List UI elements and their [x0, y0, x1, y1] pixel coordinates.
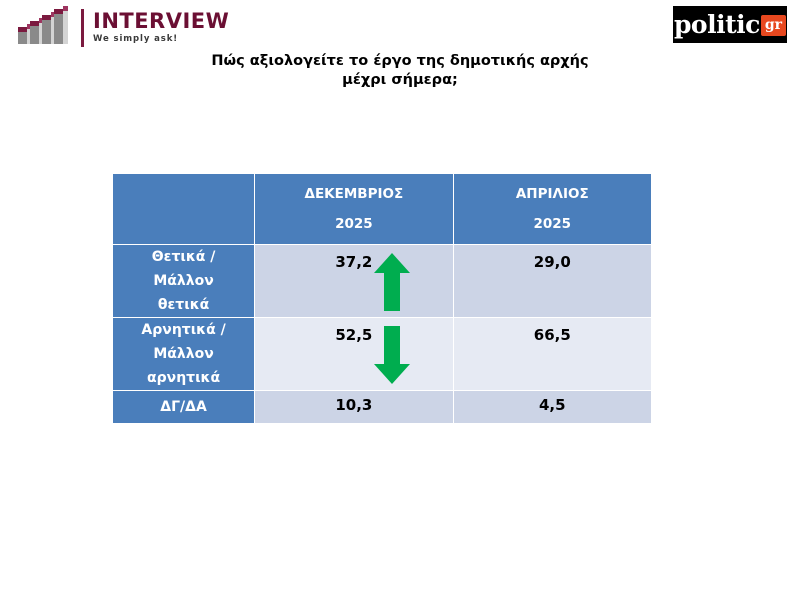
logo-tagline: We simply ask!: [93, 34, 229, 45]
row-label-negative-line1: Αρνητικά /: [141, 322, 225, 338]
column-header-april: ΑΠΡΙΛΙΟΣ 2025: [454, 174, 651, 244]
column-header-december-year: 2025: [255, 209, 452, 239]
row-label-positive: Θετικά / Μάλλον θετικά: [113, 245, 254, 317]
cell-dk-na-april-value: 4,5: [454, 391, 651, 414]
cell-negative-december: 52,5: [255, 318, 452, 390]
row-label-dk-na: ΔΓ/ΔΑ: [113, 391, 254, 423]
cell-positive-april: 29,0: [454, 245, 651, 317]
row-label-positive-line1: Θετικά /: [152, 249, 216, 265]
column-header-april-month: ΑΠΡΙΛΙΟΣ: [454, 179, 651, 209]
arrow-up-icon: [372, 251, 412, 313]
arrow-down-icon: [372, 324, 412, 386]
cell-positive-april-value: 29,0: [454, 245, 651, 271]
row-label-negative-line3: αρνητικά: [147, 370, 220, 386]
cell-positive-december-value: 37,2: [255, 245, 452, 271]
interview-logo: INTERVIEW We simply ask!: [18, 9, 218, 49]
page-title-line1: Πώς αξιολογείτε το έργο της δημοτικής αρ…: [120, 52, 680, 71]
cell-negative-december-value: 52,5: [255, 318, 452, 344]
table-row: Αρνητικά / Μάλλον αρνητικά 52,5 66,5: [113, 318, 651, 390]
cell-negative-april-value: 66,5: [454, 318, 651, 344]
table-row: ΔΓ/ΔΑ 10,3 4,5: [113, 391, 651, 423]
politic-gr-logo: politicgr: [673, 6, 787, 43]
politic-wordmark: politic: [674, 12, 760, 37]
cell-dk-na-december-value: 10,3: [255, 391, 452, 414]
row-label-negative-line2: Μάλλον: [153, 346, 213, 362]
cell-positive-december: 37,2: [255, 245, 452, 317]
row-label-positive-line2: Μάλλον: [153, 273, 213, 289]
table-corner-cell: [113, 174, 254, 244]
column-header-december-month: ΔΕΚΕΜΒΡΙΟΣ: [255, 179, 452, 209]
column-header-december: ΔΕΚΕΜΒΡΙΟΣ 2025: [255, 174, 452, 244]
row-label-negative: Αρνητικά / Μάλλον αρνητικά: [113, 318, 254, 390]
cell-dk-na-april: 4,5: [454, 391, 651, 423]
logo-text-block: INTERVIEW We simply ask!: [93, 9, 229, 45]
politic-gr-badge: gr: [761, 15, 786, 36]
cell-dk-na-december: 10,3: [255, 391, 452, 423]
page-title: Πώς αξιολογείτε το έργο της δημοτικής αρ…: [120, 52, 680, 90]
row-label-positive-line3: θετικά: [158, 297, 209, 313]
column-header-april-year: 2025: [454, 209, 651, 239]
logo-wordmark: INTERVIEW: [93, 10, 229, 33]
table-header-row: ΔΕΚΕΜΒΡΙΟΣ 2025 ΑΠΡΙΛΙΟΣ 2025: [113, 174, 651, 244]
cell-negative-april: 66,5: [454, 318, 651, 390]
logo-divider: [81, 9, 84, 47]
table-row: Θετικά / Μάλλον θετικά 37,2 29,0: [113, 245, 651, 317]
page-title-line2: μέχρι σήμερα;: [120, 71, 680, 90]
bar-chart-logo-icon: [18, 9, 76, 47]
results-table: ΔΕΚΕΜΒΡΙΟΣ 2025 ΑΠΡΙΛΙΟΣ 2025 Θετικά / Μ…: [112, 173, 652, 424]
